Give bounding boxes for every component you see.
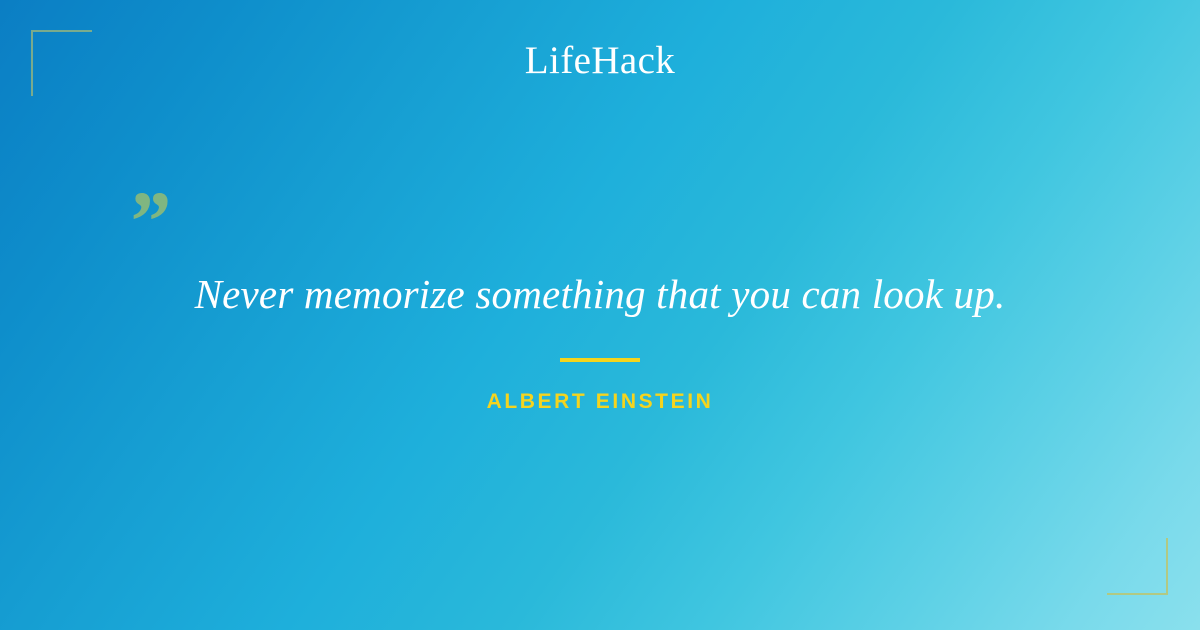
corner-bracket-bottom-right-icon: [1107, 538, 1168, 595]
quote-text: Never memorize something that you can lo…: [100, 268, 1100, 320]
brand-logo: LifeHack: [0, 38, 1200, 84]
quote-card: LifeHack ” Never memorize something that…: [0, 0, 1200, 630]
quotation-mark-icon: ”: [126, 178, 169, 264]
divider-rule: [560, 358, 640, 362]
quote-author: ALBERT EINSTEIN: [0, 389, 1200, 415]
divider: [0, 358, 1200, 362]
